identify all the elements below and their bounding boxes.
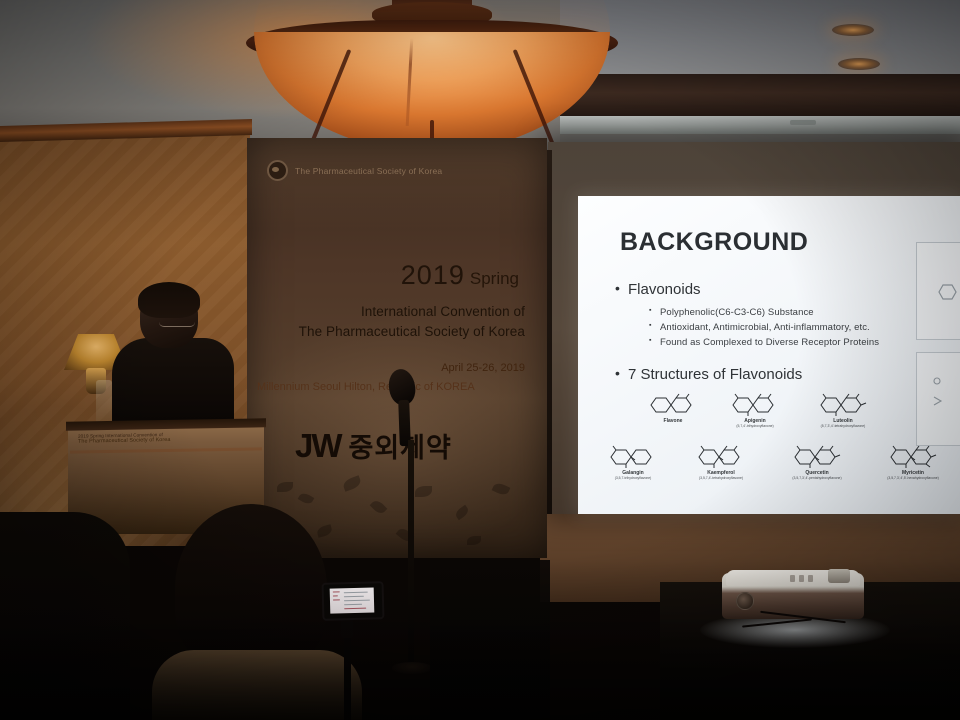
projector-vent — [808, 575, 813, 582]
water-bottle — [96, 380, 112, 424]
slide-subbullet: Polyphenolic(C6-C3-C6) Substance — [660, 307, 814, 318]
structure-formula: (3,5,7,4'-tetrahydroxyflavone) — [680, 476, 762, 480]
quercetin-molecule-icon — [790, 444, 844, 470]
presentation-room-photo: BACKGROUND Flavonoids Polyphenolic(C6-C3… — [0, 0, 960, 720]
flavonoid-structure: Flavone — [642, 392, 704, 424]
phone-screen-line — [333, 595, 338, 597]
projector-focus-knob[interactable] — [828, 569, 850, 583]
phone-screen — [330, 587, 375, 613]
structure-formula: (3,5,7,3',4'-pentahydroxyflavone) — [772, 476, 862, 480]
slide-callout-box — [916, 352, 960, 446]
galangin-molecule-icon — [606, 444, 660, 470]
audience-member-coat — [152, 650, 362, 720]
smartphone-recording[interactable] — [322, 581, 385, 621]
floral-petal — [454, 505, 471, 520]
recessed-downlight-icon — [838, 58, 880, 70]
structure-formula: (5,7,3',4'-tetrahydroxyflavone) — [802, 424, 884, 428]
floral-petal — [316, 524, 333, 538]
floral-petal — [298, 491, 315, 506]
projector-lens-icon — [736, 592, 754, 610]
slide-callout-box — [916, 242, 960, 340]
slide-subbullet: Antioxidant, Antimicrobial, Anti-inflamm… — [660, 322, 870, 333]
banner-line-2: The Pharmaceutical Society of Korea — [299, 324, 525, 339]
speaker-glasses-icon — [159, 317, 195, 327]
structure-name: Flavone — [642, 418, 704, 424]
molecule-icon — [933, 277, 960, 307]
slide-heading-flavonoids: Flavonoids — [628, 281, 701, 298]
microphone-stand-base — [392, 662, 432, 674]
myricetin-molecule-icon — [886, 444, 940, 470]
recessed-downlight-icon — [832, 24, 874, 36]
flavonoid-structure: Myricetin (3,5,7,3',4',5'-hexahydroxyfla… — [866, 444, 960, 480]
sponsor-logo-jw: JW 중외제약 — [295, 426, 452, 465]
audience-member-head — [175, 504, 327, 672]
floral-petal — [277, 482, 293, 492]
floral-petal — [370, 498, 388, 516]
phone-screen-line — [344, 604, 362, 606]
structure-formula: (3,5,7-trihydroxyflavone) — [596, 476, 670, 480]
banner-season: Spring — [470, 269, 519, 288]
phone-screen-line — [344, 596, 364, 598]
floral-petal — [492, 481, 511, 497]
banner-year-block: 2019Spring — [401, 260, 519, 291]
slide-heading-structures: 7 Structures of Flavonoids — [628, 366, 802, 383]
speaker-hair — [138, 282, 200, 318]
luteolin-molecule-icon — [816, 392, 870, 418]
chair-silhouette — [430, 560, 550, 720]
phone-screen-line — [344, 592, 368, 594]
floral-petal — [415, 486, 432, 497]
floral-petal — [467, 536, 481, 545]
conference-banner: The Pharmaceutical Society of Korea 2019… — [247, 138, 547, 558]
banner-year: 2019 — [401, 260, 465, 290]
apigenin-molecule-icon — [728, 392, 782, 418]
society-emblem-icon — [267, 160, 288, 181]
slide-subbullet: Found as Complexed to Diverse Receptor P… — [660, 337, 879, 348]
structure-formula: (3,5,7,3',4',5'-hexahydroxyflavone) — [866, 476, 960, 480]
flavonoid-structure: Apigenin (5,7,4'-trihydroxyflavone) — [718, 392, 792, 428]
projector-vent — [799, 575, 804, 582]
banner-org-name: The Pharmaceutical Society of Korea — [295, 166, 442, 176]
audience-member-left — [0, 512, 130, 720]
sponsor-mark: JW — [295, 427, 341, 465]
phone-screen-line — [344, 608, 366, 610]
banner-society-logo: The Pharmaceutical Society of Korea — [267, 160, 442, 181]
structure-formula: (5,7,4'-trihydroxyflavone) — [718, 424, 792, 428]
flavonoid-structure: Luteolin (5,7,3',4'-tetrahydroxyflavone) — [802, 392, 884, 428]
molecule-icon — [929, 371, 960, 411]
tripod-pole — [344, 634, 351, 720]
banner-venue: Millennium Seoul Hilton, Republic of KOR… — [257, 381, 475, 393]
flavonoid-structure: Galangin (3,5,7-trihydroxyflavone) — [596, 444, 670, 480]
presentation-slide: BACKGROUND Flavonoids Polyphenolic(C6-C3… — [578, 196, 960, 514]
phone-screen-line — [333, 599, 340, 601]
kaempferol-molecule-icon — [694, 444, 748, 470]
flavone-molecule-icon — [646, 392, 700, 418]
phone-screen-line — [344, 600, 370, 602]
flavonoid-structure: Kaempferol (3,5,7,4'-tetrahydroxyflavone… — [680, 444, 762, 480]
microphone-stand-pole — [408, 440, 414, 670]
banner-line-1: International Convention of — [361, 304, 525, 319]
banner-date: April 25-26, 2019 — [441, 362, 525, 374]
projector-vent — [790, 575, 795, 582]
slide-title: BACKGROUND — [620, 228, 808, 257]
phone-screen-line — [333, 591, 340, 593]
flavonoid-structure: Quercetin (3,5,7,3',4'-pentahydroxyflavo… — [772, 444, 862, 480]
cornice-detail — [790, 120, 816, 125]
floral-petal — [342, 475, 363, 491]
